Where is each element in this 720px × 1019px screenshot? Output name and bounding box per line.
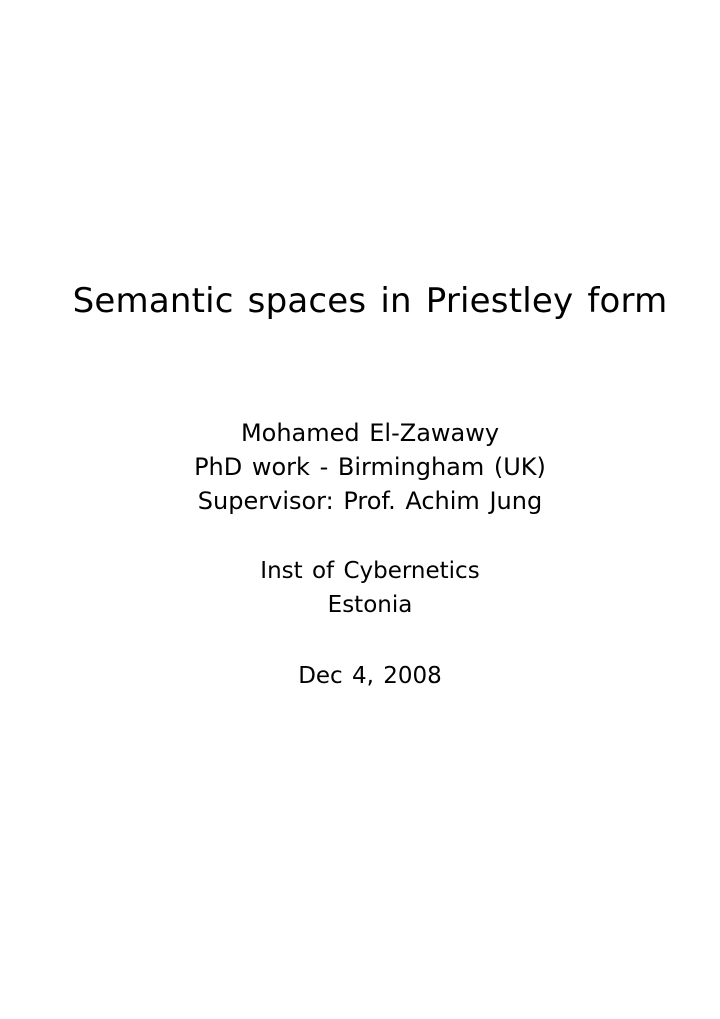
- presentation-date: Dec 4, 2008: [20, 660, 720, 692]
- title-page: Semantic spaces in Priestley form Mohame…: [20, 0, 720, 1019]
- title-block: Semantic spaces in Priestley form: [20, 272, 720, 330]
- author-name: Mohamed El-Zawawy: [20, 416, 720, 450]
- document-page: Semantic spaces in Priestley form Mohame…: [0, 0, 720, 1019]
- date-block: Dec 4, 2008: [20, 660, 720, 692]
- institute-block: Inst of Cybernetics Estonia: [20, 554, 720, 622]
- page-title: Semantic spaces in Priestley form: [65, 272, 675, 330]
- author-supervisor: Supervisor: Prof. Achim Jung: [20, 484, 720, 518]
- author-affiliation: PhD work - Birmingham (UK): [20, 450, 720, 484]
- institute-location: Estonia: [20, 588, 720, 622]
- institute-name: Inst of Cybernetics: [20, 554, 720, 588]
- author-block: Mohamed El-Zawawy PhD work - Birmingham …: [20, 416, 720, 518]
